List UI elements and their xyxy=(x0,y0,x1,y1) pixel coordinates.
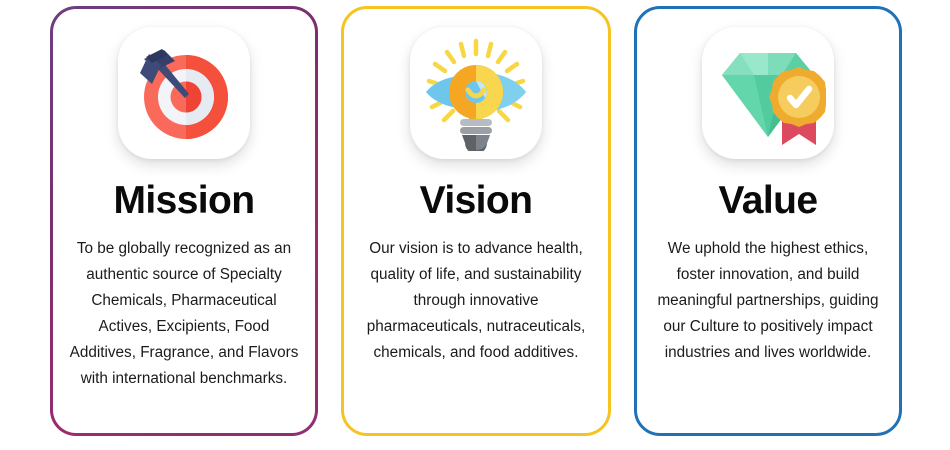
card-body-value: We uphold the highest ethics, foster inn… xyxy=(637,236,899,366)
vision-icon-tile xyxy=(410,27,542,159)
target-dart-icon xyxy=(128,37,240,149)
mission-icon-tile xyxy=(118,27,250,159)
card-title-value: Value xyxy=(719,181,818,220)
card-title-mission: Mission xyxy=(114,181,255,220)
card-vision[interactable]: Vision Our vision is to advance health, … xyxy=(341,6,611,436)
card-body-vision: Our vision is to advance health, quality… xyxy=(344,236,608,366)
diamond-award-icon xyxy=(710,35,826,151)
cards-board: Mission To be globally recognized as an … xyxy=(0,0,950,450)
value-icon-tile xyxy=(702,27,834,159)
card-value[interactable]: Value We uphold the highest ethics, fost… xyxy=(634,6,902,436)
card-body-mission: To be globally recognized as an authenti… xyxy=(53,236,315,392)
eye-lightbulb-icon xyxy=(418,35,534,151)
card-title-vision: Vision xyxy=(420,181,533,220)
card-mission[interactable]: Mission To be globally recognized as an … xyxy=(50,6,318,436)
